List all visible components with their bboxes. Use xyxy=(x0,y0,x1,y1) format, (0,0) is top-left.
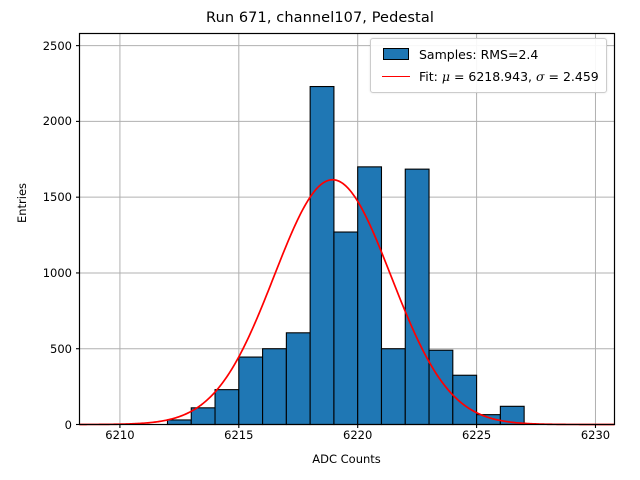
samples-patch-icon xyxy=(379,45,413,63)
legend-fit-prefix: Fit: xyxy=(419,69,442,84)
chart-legend: Samples: RMS=2.4 Fit: μ = 6218.943, σ = … xyxy=(370,38,607,93)
x-tick-label: 6215 xyxy=(224,428,253,442)
legend-fit-mu-value: = 6218.943, xyxy=(450,69,536,84)
y-tick-label: 2500 xyxy=(26,39,72,53)
legend-label-fit: Fit: μ = 6218.943, σ = 2.459 xyxy=(419,69,599,84)
histogram-bars xyxy=(167,87,524,425)
legend-fit-sigma-value: = 2.459 xyxy=(545,69,599,84)
legend-fit-mu-symbol: μ xyxy=(442,69,450,84)
x-tick-label: 6230 xyxy=(581,428,610,442)
legend-item-samples: Samples: RMS=2.4 xyxy=(379,44,598,64)
x-tick-label: 6220 xyxy=(343,428,372,442)
legend-item-fit: Fit: μ = 6218.943, σ = 2.459 xyxy=(379,66,598,86)
x-tick-label: 6225 xyxy=(462,428,491,442)
y-tick-label: 1000 xyxy=(26,266,72,280)
x-tick-label: 6210 xyxy=(105,428,134,442)
y-tick-label: 1500 xyxy=(26,190,72,204)
fit-line-icon xyxy=(379,67,413,85)
y-tick-label: 500 xyxy=(26,342,72,356)
legend-label-samples: Samples: RMS=2.4 xyxy=(419,47,538,62)
y-tick-label: 2000 xyxy=(26,114,72,128)
legend-fit-sigma-symbol: σ xyxy=(536,69,545,84)
histogram-figure: Run 671, channel107, Pedestal Entries AD… xyxy=(0,0,640,480)
y-tick-label: 0 xyxy=(26,418,72,432)
